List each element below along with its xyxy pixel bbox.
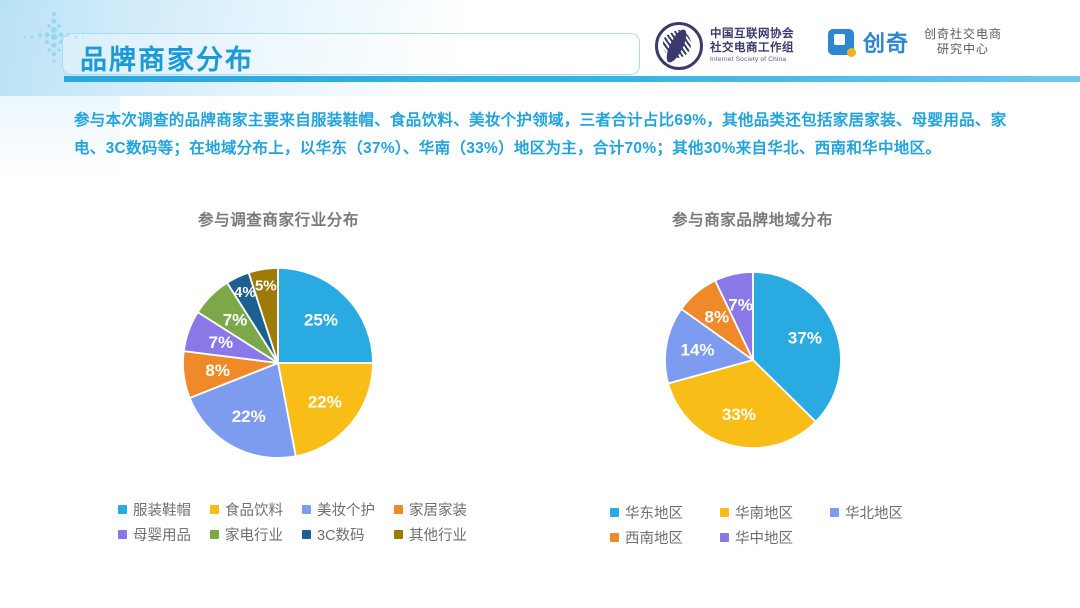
legend-item[interactable]: 华北地区 <box>830 500 940 525</box>
legend-item[interactable]: 母婴用品 <box>118 522 210 547</box>
legend-swatch-icon <box>394 530 403 539</box>
pie-slice-label: 4% <box>234 284 256 301</box>
legend-swatch-icon <box>302 530 311 539</box>
legend-swatch-icon <box>610 533 619 542</box>
pie-slice-label: 7% <box>728 296 753 315</box>
legend-item-label: 华北地区 <box>845 502 903 523</box>
pie-slice-label: 8% <box>705 307 730 326</box>
legend-item[interactable]: 食品饮料 <box>210 497 302 522</box>
legend-item[interactable]: 美妆个护 <box>302 497 394 522</box>
pie-slice-label: 7% <box>223 311 248 330</box>
legend-swatch-icon <box>720 508 729 517</box>
legend-swatch-icon <box>830 508 839 517</box>
legend-item-label: 华东地区 <box>625 502 683 523</box>
legend-item-label: 3C数码 <box>317 524 365 545</box>
legend-item-label: 西南地区 <box>625 527 683 548</box>
legend-item-label: 华中地区 <box>735 527 793 548</box>
legend-item[interactable]: 服装鞋帽 <box>118 497 210 522</box>
pie-slice-label: 25% <box>304 311 338 330</box>
legend-swatch-icon <box>118 505 127 514</box>
legend-swatch-icon <box>720 533 729 542</box>
legend-item[interactable]: 华东地区 <box>610 500 720 525</box>
pie-slice-label: 8% <box>205 361 230 380</box>
pie-slice-label: 7% <box>209 333 234 352</box>
legend-item[interactable]: 家居家装 <box>394 497 486 522</box>
chuangqi-wordmark: 创奇 <box>863 26 909 58</box>
legend-swatch-icon <box>210 505 219 514</box>
pie-slice-label: 33% <box>722 405 756 424</box>
legend-swatch-icon <box>302 505 311 514</box>
chuangqi-logo-line1: 创奇社交电商 <box>924 27 1002 42</box>
chuangqi-square-mark-icon <box>828 29 854 55</box>
legend-swatch-icon <box>210 530 219 539</box>
summary-paragraph: 参与本次调查的品牌商家主要来自服装鞋帽、食品饮料、美妆个护领域，三者合计占比69… <box>74 107 1012 163</box>
legend-swatch-icon <box>394 505 403 514</box>
legend-item-label: 华南地区 <box>735 502 793 523</box>
legend-item-label: 食品饮料 <box>225 499 283 520</box>
legend-item-label: 母婴用品 <box>133 524 191 545</box>
chart-title-region: 参与商家品牌地域分布 <box>672 208 833 230</box>
legend-item-label: 服装鞋帽 <box>133 499 191 520</box>
pie-slice-label: 5% <box>255 278 277 295</box>
legend-item[interactable]: 华中地区 <box>720 525 830 550</box>
page-title: 品牌商家分布 <box>80 38 254 77</box>
chuangqi-logo: 创奇 创奇社交电商 研究中心 <box>828 26 1002 58</box>
industry-distribution-pie: 25%22%22%8%7%7%4%5% <box>178 263 378 463</box>
legend-swatch-icon <box>610 508 619 517</box>
pie-slice-label: 14% <box>681 341 715 360</box>
industry-pie-legend: 服装鞋帽食品饮料美妆个护家居家装母婴用品家电行业3C数码其他行业 <box>118 497 486 547</box>
legend-item[interactable]: 华南地区 <box>720 500 830 525</box>
legend-item-label: 家电行业 <box>225 524 283 545</box>
legend-item-label: 美妆个护 <box>317 499 375 520</box>
legend-item[interactable]: 3C数码 <box>302 522 394 547</box>
left-gradient-decoration <box>0 0 120 608</box>
legend-item-label: 家居家装 <box>409 499 467 520</box>
region-pie-legend: 华东地区华南地区华北地区西南地区华中地区 <box>610 500 940 550</box>
chart-title-industry: 参与调查商家行业分布 <box>198 208 359 230</box>
legend-item[interactable]: 西南地区 <box>610 525 720 550</box>
region-distribution-pie: 37%33%14%8%7% <box>661 268 845 452</box>
pie-slice-label: 22% <box>308 392 342 411</box>
isc-logo-line3: Internet Society of China <box>710 56 794 64</box>
isc-logo-line2: 社交电商工作组 <box>710 42 794 56</box>
legend-swatch-icon <box>118 530 127 539</box>
isc-circle-mark-icon <box>655 22 703 70</box>
title-underline <box>64 76 1080 82</box>
isc-logo: 中国互联网协会 社交电商工作组 Internet Society of Chin… <box>655 22 794 70</box>
chuangqi-logo-line2: 研究中心 <box>924 42 1002 57</box>
pie-slice-label: 22% <box>232 407 266 426</box>
isc-logo-line1: 中国互联网协会 <box>710 28 794 42</box>
legend-item-label: 其他行业 <box>409 524 467 545</box>
legend-item[interactable]: 家电行业 <box>210 522 302 547</box>
pie-slice-label: 37% <box>788 329 822 348</box>
legend-item[interactable]: 其他行业 <box>394 522 486 547</box>
